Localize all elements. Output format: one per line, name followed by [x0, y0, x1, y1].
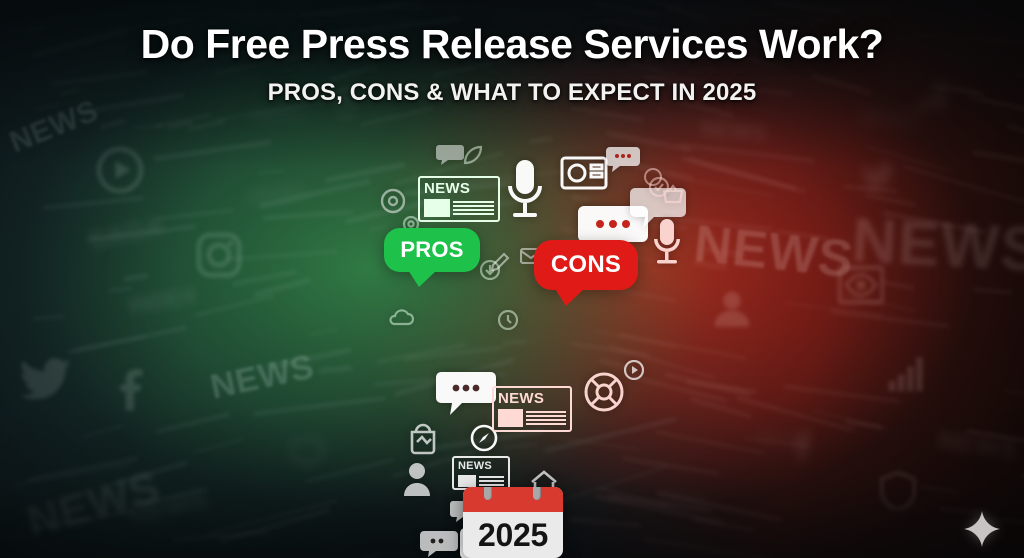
- cons-bubble-label: CONS: [551, 251, 621, 279]
- pros-bubble: PROS: [384, 228, 480, 272]
- calendar-ring: [484, 487, 492, 500]
- chat-bubble-icon: [606, 146, 640, 172]
- calendar-icon: 2025: [463, 487, 563, 558]
- gear-icon: [380, 188, 406, 214]
- page-subtitle: PROS, CONS & WHAT TO EXPECT IN 2025: [0, 79, 1024, 107]
- clock-icon: [644, 168, 662, 186]
- news-card-icon: NEWS: [492, 386, 572, 432]
- basket-icon: [662, 184, 684, 204]
- paint-bucket-icon: [408, 422, 442, 456]
- poster-canvas: NEWSNEWSNEWSNEWSNEWSINDEXSAGANEWSNEWSNEW…: [0, 0, 1024, 558]
- news-card-label: NEWS: [498, 391, 566, 406]
- lifebuoy-icon: [584, 372, 624, 412]
- page-title: Do Free Press Release Services Work?: [0, 22, 1024, 66]
- headline-block: Do Free Press Release Services Work? PRO…: [0, 22, 1024, 107]
- calendar-year: 2025: [463, 512, 563, 558]
- clock-icon: [498, 310, 518, 330]
- play-button-icon: [624, 360, 644, 380]
- chat-bubble-icon: [420, 530, 458, 558]
- news-card-icon: NEWS: [452, 456, 510, 490]
- news-card-label: NEWS: [458, 461, 504, 472]
- user-icon: [404, 462, 430, 496]
- microphone-icon: [650, 218, 684, 268]
- calendar-header: [463, 487, 563, 512]
- cloud-icon: [388, 308, 414, 326]
- chat-bubble-icon: [436, 144, 464, 166]
- four-point-star-icon: [963, 510, 1001, 548]
- chat-bubble-icon: [436, 370, 496, 416]
- microphone-icon: [502, 158, 548, 222]
- pencil-icon: [490, 252, 510, 272]
- news-card-label: NEWS: [424, 181, 494, 196]
- news-card-icon: NEWS: [418, 176, 500, 222]
- leaf-icon: [462, 144, 484, 166]
- calendar-ring: [533, 487, 541, 500]
- pros-bubble-label: PROS: [400, 237, 463, 263]
- media-camera-icon: [560, 154, 608, 190]
- cons-bubble: CONS: [534, 240, 638, 290]
